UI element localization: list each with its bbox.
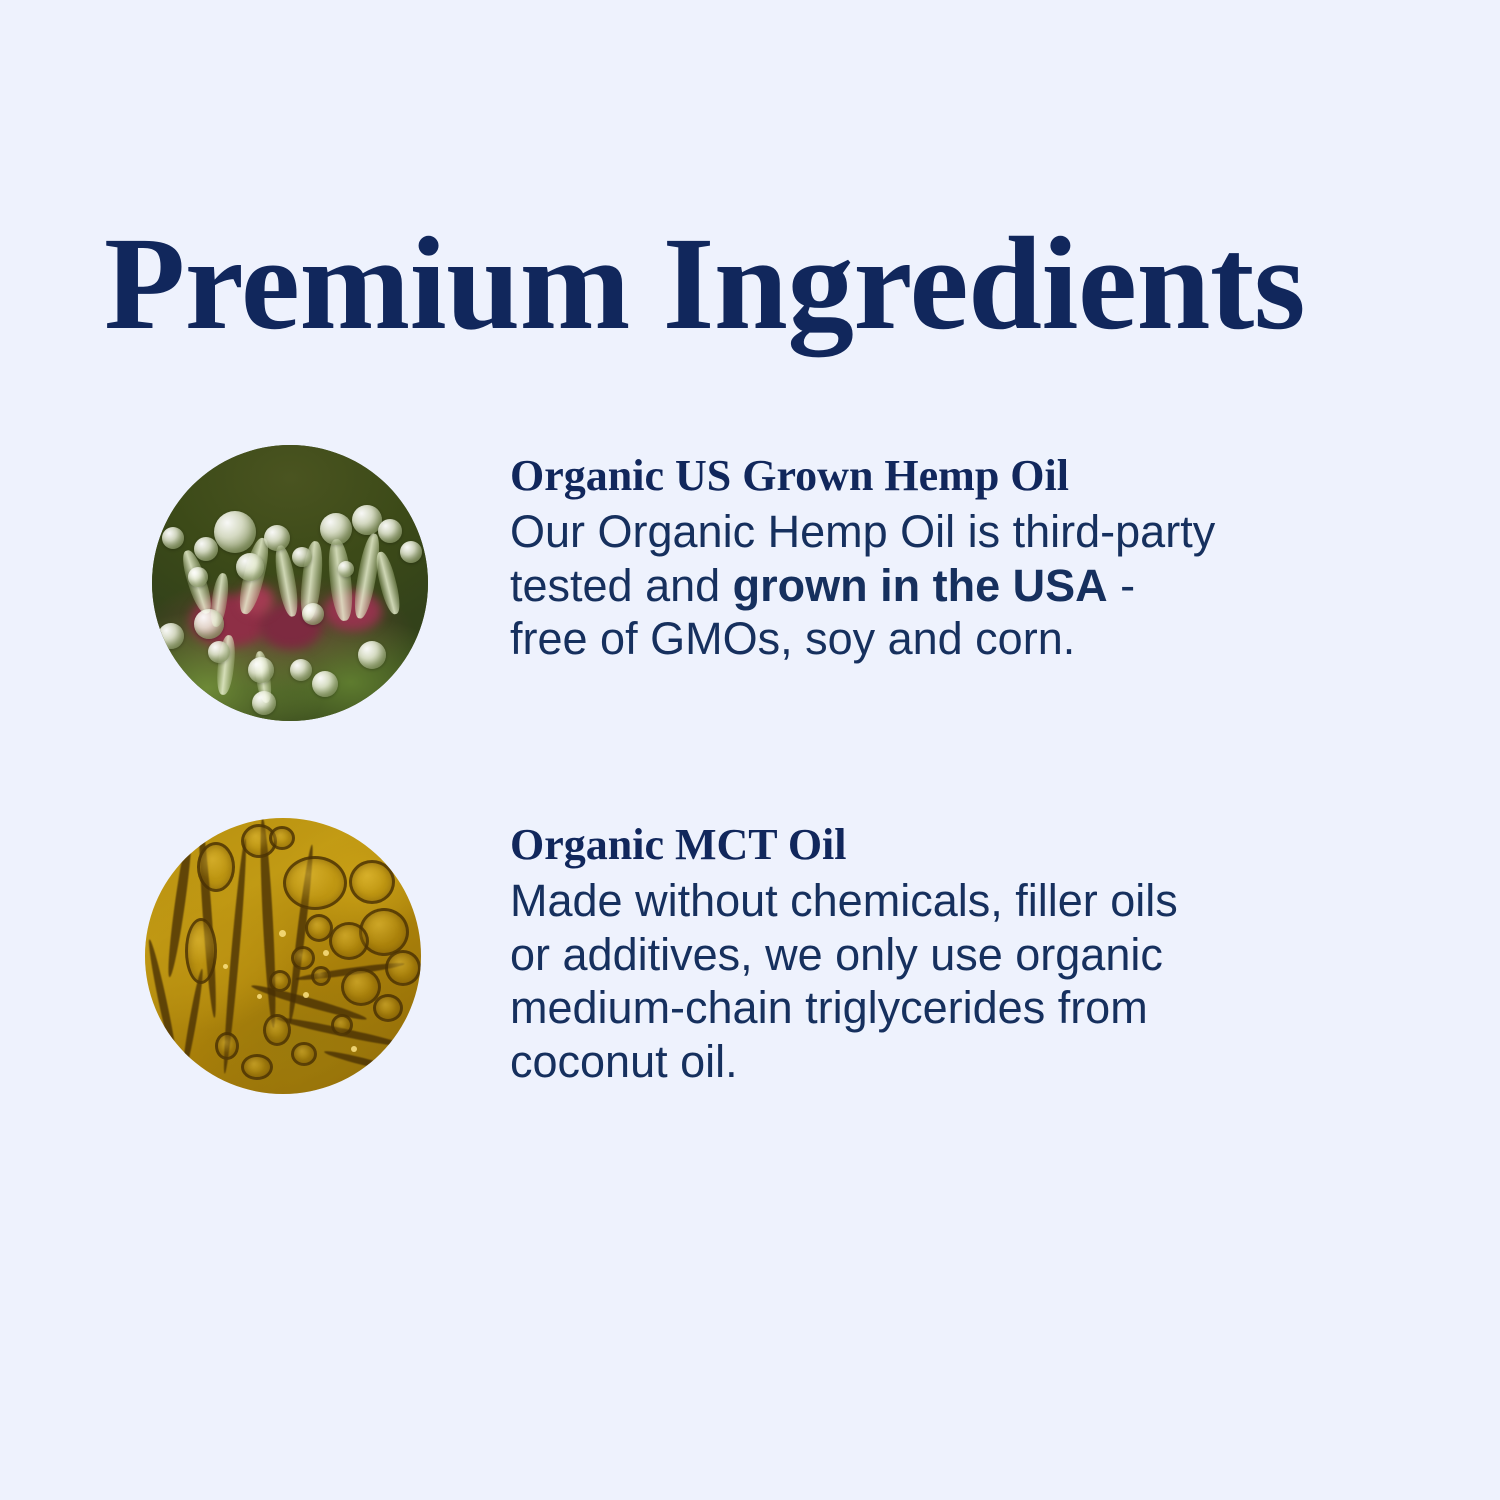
ingredient-image-hemp [152, 445, 428, 721]
ingredient-heading: Organic US Grown Hemp Oil [510, 451, 1215, 500]
premium-ingredients-panel: Premium Ingredients [0, 0, 1500, 1500]
page-title: Premium Ingredients [104, 217, 1404, 350]
ingredient-image-mct [145, 818, 421, 1094]
ingredient-text-hemp: Organic US Grown Hemp Oil Our Organic He… [510, 445, 1215, 666]
ingredient-row: Organic US Grown Hemp Oil Our Organic He… [0, 445, 1215, 721]
description-line: Made without chemicals, filler oils [510, 874, 1178, 928]
mct-oil-macro-photo [145, 818, 421, 1094]
description-line: coconut oil. [510, 1035, 1178, 1089]
description-line: medium-chain triglycerides from [510, 981, 1178, 1035]
ingredient-description: Made without chemicals, filler oilsor ad… [510, 874, 1178, 1088]
ingredient-description: Our Organic Hemp Oil is third-partyteste… [510, 505, 1215, 666]
ingredient-heading: Organic MCT Oil [510, 820, 1178, 869]
description-line: or additives, we only use organic [510, 928, 1178, 982]
description-line: tested and grown in the USA - [510, 559, 1215, 613]
description-line: free of GMOs, soy and corn. [510, 612, 1215, 666]
description-line: Our Organic Hemp Oil is third-party [510, 505, 1215, 559]
ingredient-text-mct: Organic MCT Oil Made without chemicals, … [510, 818, 1178, 1088]
description-emphasis: grown in the USA [733, 560, 1108, 611]
hemp-trichome-macro-photo [152, 445, 428, 721]
ingredient-row: Organic MCT Oil Made without chemicals, … [0, 818, 1178, 1094]
